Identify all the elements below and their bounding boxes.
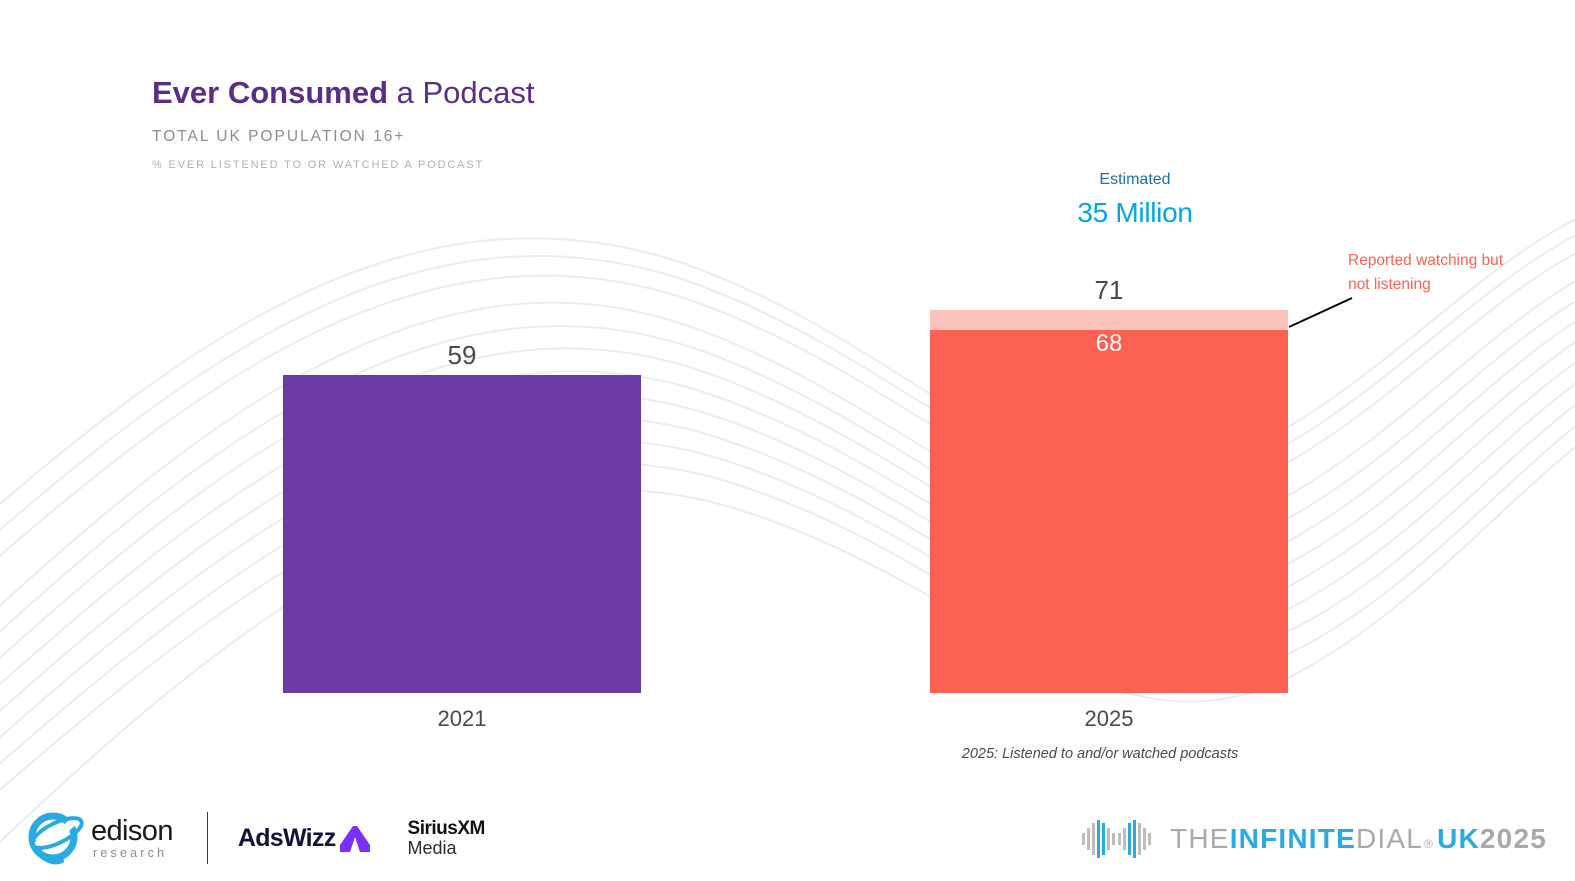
brand-uk: UK (1437, 823, 1480, 855)
page-title-emphasis: Ever Consumed (152, 75, 388, 110)
siriusxm-wordmark: SiriusXM (408, 819, 485, 839)
bar-category-label-2025: 2025 (930, 706, 1288, 732)
edison-research-logo: edison research (26, 809, 173, 867)
footer-divider (207, 812, 208, 864)
annotation-leader-line (1288, 295, 1354, 329)
bar-segment-2025-listened[interactable] (930, 330, 1288, 693)
edison-subtitle: research (93, 847, 173, 860)
siriusxm-media-logo: SiriusXM Media (408, 819, 485, 858)
bar-total-label-2025: 71 (930, 275, 1288, 305)
adswizz-peak-icon (336, 823, 374, 853)
slide-canvas: Ever Consumed a Podcast TOTAL UK POPULAT… (0, 0, 1575, 881)
subtitle-population: TOTAL UK POPULATION 16+ (152, 128, 535, 146)
edison-wordmark: edison research (91, 817, 173, 860)
edison-planet-icon (26, 809, 88, 867)
brand-dial: DIAL (1356, 823, 1423, 855)
footer-sponsor-logos: edison research AdsWizz SiriusXM Media (26, 807, 485, 869)
adswizz-wordmark: AdsWizz (238, 824, 336, 853)
estimate-callout: Estimated 35 Million (930, 170, 1340, 231)
slide-footer: edison research AdsWizz SiriusXM Media (0, 789, 1575, 881)
brand-the: THE (1170, 823, 1230, 855)
bar-value-label-2025-listened: 68 (930, 330, 1288, 358)
annotation-watch-only: Reported watching but not listening (1348, 249, 1508, 297)
page-title: Ever Consumed a Podcast (152, 74, 535, 112)
edison-name: edison (91, 817, 173, 846)
bar-category-label-2021: 2021 (283, 706, 641, 732)
brand-registered-mark: ® (1424, 837, 1434, 851)
brand-year: 2025 (1480, 823, 1547, 855)
bar-segment-2021-consumed[interactable] (283, 375, 641, 693)
subtitle-metric: % EVER LISTENED TO OR WATCHED A PODCAST (152, 159, 535, 171)
brand-infinite: INFINITE (1230, 823, 1356, 855)
infinite-dial-branding: THE INFINITE DIAL®UK 2025 (1080, 815, 1547, 863)
adswizz-logo: AdsWizz (238, 823, 374, 853)
bar-segment-2025-watch-only[interactable] (930, 310, 1288, 330)
chart-footnote: 2025: Listened to and/or watched podcast… (930, 746, 1270, 762)
estimate-label: Estimated (930, 170, 1340, 190)
infinite-dial-wordmark: THE INFINITE DIAL®UK 2025 (1170, 823, 1547, 855)
siriusxm-media-label: Media (408, 839, 485, 858)
estimate-value: 35 Million (930, 195, 1340, 231)
infinite-dial-logo-icon (1080, 815, 1156, 863)
chart-header: Ever Consumed a Podcast TOTAL UK POPULAT… (152, 74, 535, 171)
page-title-rest: a Podcast (388, 75, 534, 110)
bar-value-label-2021: 59 (283, 340, 641, 370)
